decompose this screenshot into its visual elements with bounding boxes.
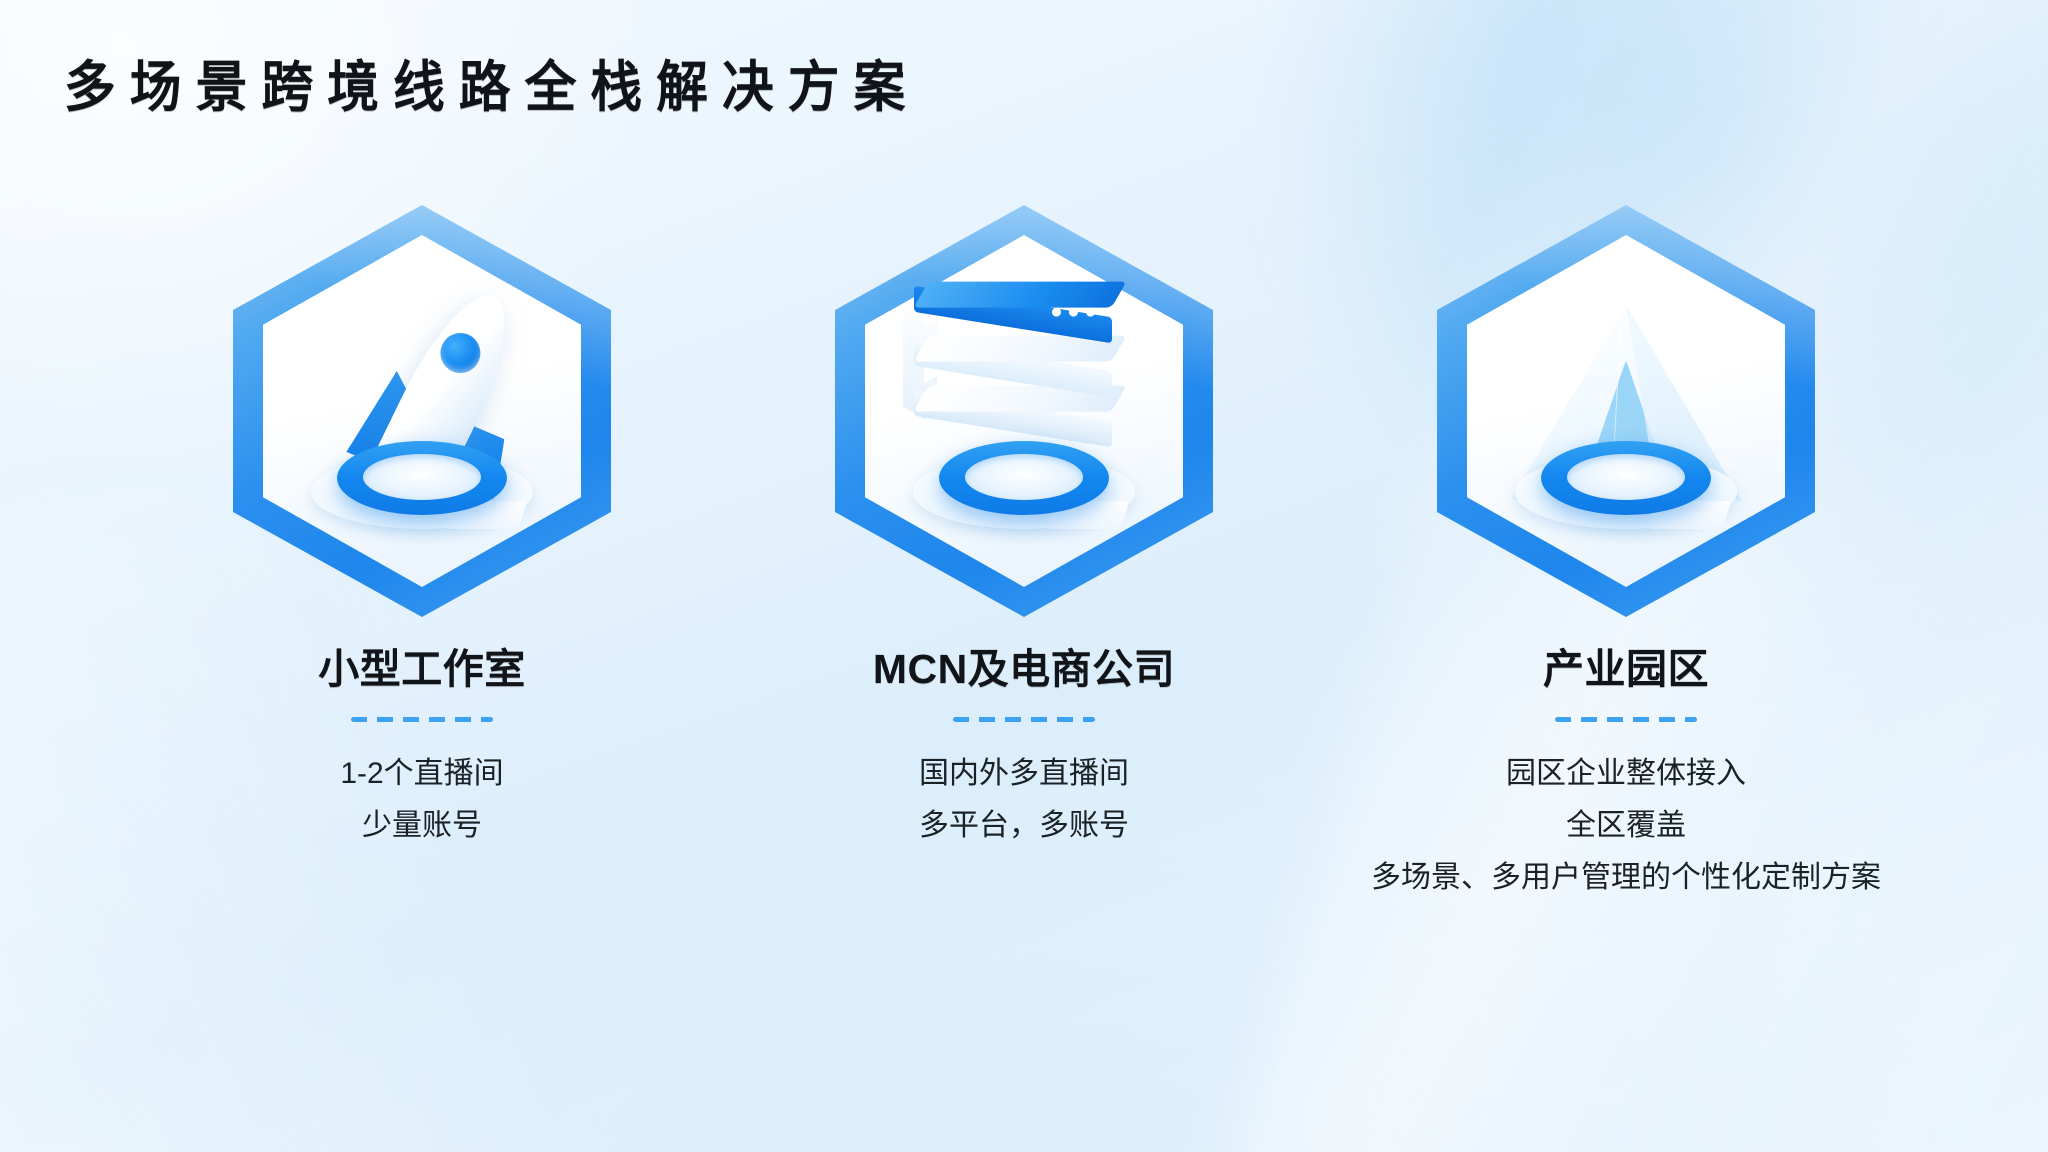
glass-pyramid-icon	[1510, 305, 1742, 501]
hexagon-icon-badge-1	[233, 205, 611, 617]
hexagon-icon-badge-3	[1437, 205, 1815, 617]
card-description-line: 少量账号	[340, 800, 503, 852]
card-description-line: 多场景、多用户管理的个性化定制方案	[1371, 852, 1881, 904]
card-description: 国内外多直播间 多平台，多账号	[919, 748, 1129, 852]
card-dashed-divider	[351, 717, 493, 722]
card-description: 园区企业整体接入 全区覆盖 多场景、多用户管理的个性化定制方案	[1371, 748, 1881, 904]
card-title: 产业园区	[1543, 635, 1709, 695]
solution-card-mcn-ecommerce[interactable]: MCN及电商公司 国内外多直播间 多平台，多账号	[789, 205, 1259, 852]
server-status-lights	[1052, 308, 1095, 317]
card-description-line: 园区企业整体接入	[1371, 748, 1881, 800]
card-description-line: 1-2个直播间	[340, 748, 503, 800]
solution-card-industrial-park[interactable]: 产业园区 园区企业整体接入 全区覆盖 多场景、多用户管理的个性化定制方案	[1391, 205, 1861, 904]
card-description-line: 国内外多直播间	[919, 748, 1129, 800]
server-stack-icon	[899, 278, 1149, 508]
card-title: MCN及电商公司	[873, 635, 1175, 695]
card-description-line: 全区覆盖	[1371, 800, 1881, 852]
page-title: 多场景跨境线路全栈解决方案	[64, 57, 919, 119]
card-title: 小型工作室	[318, 635, 526, 695]
rocket-window	[440, 333, 480, 373]
card-description: 1-2个直播间 少量账号	[340, 748, 503, 852]
card-dashed-divider	[953, 717, 1095, 722]
card-description-line: 多平台，多账号	[919, 800, 1129, 852]
server-unit-top	[921, 282, 1119, 322]
card-dashed-divider	[1555, 717, 1697, 722]
solution-card-row: 小型工作室 1-2个直播间 少量账号	[0, 205, 2048, 904]
solution-card-small-studio[interactable]: 小型工作室 1-2个直播间 少量账号	[187, 205, 657, 852]
rocket-icon	[302, 271, 532, 521]
hexagon-icon-badge-2	[835, 205, 1213, 617]
server-unit-middle	[921, 336, 1119, 376]
